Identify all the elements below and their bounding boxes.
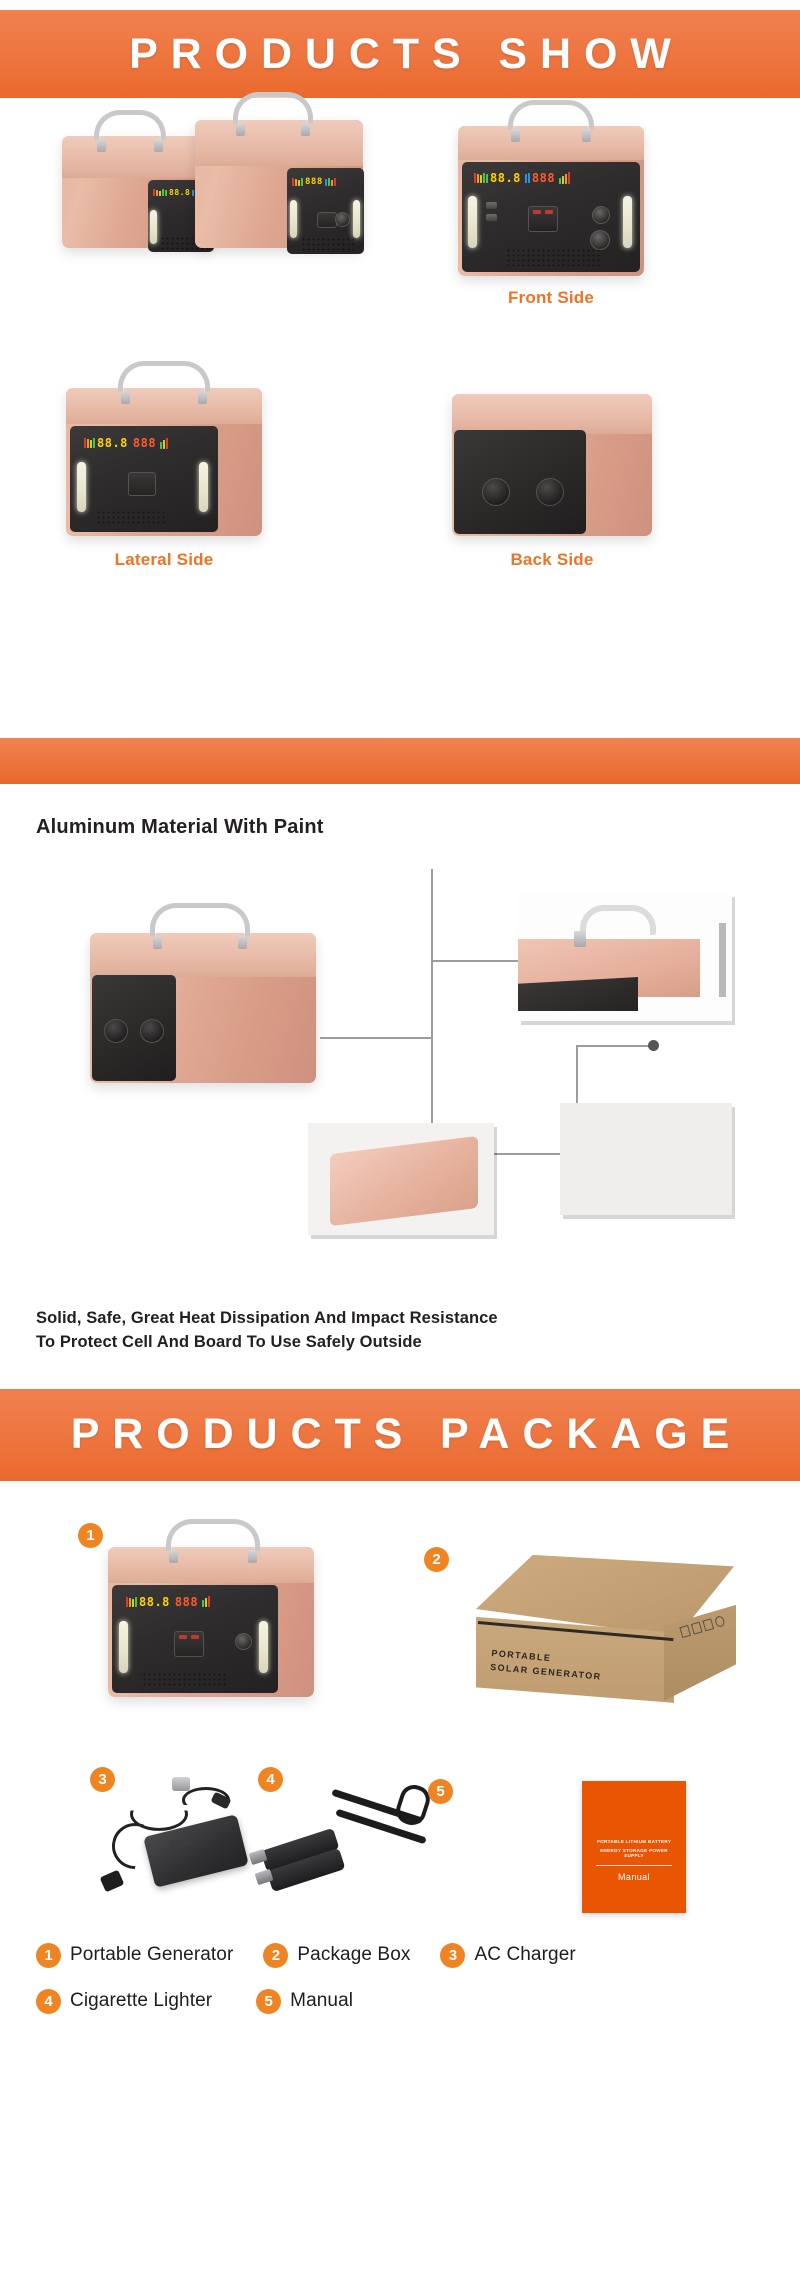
- carry-handle-icon: [233, 92, 313, 124]
- power-readout: 888: [133, 436, 156, 450]
- legend-item-3: 3 AC Charger: [440, 1943, 575, 1968]
- unit-back-face: [92, 975, 176, 1081]
- power-readout: 888: [175, 1595, 198, 1609]
- control-knob: [235, 1633, 252, 1650]
- manual-cover-line-2: ENERGY STORAGE POWER SUPPLY: [590, 1848, 678, 1858]
- unit-control-panel: 88.8 888: [462, 162, 640, 272]
- vent-grille: [96, 510, 166, 526]
- material-diagram: [0, 855, 800, 1307]
- legend-badge-2: 2: [263, 1943, 288, 1968]
- led-bargraph: [153, 189, 167, 196]
- led-light-strip: [259, 1621, 268, 1673]
- ac-outlet: [528, 206, 558, 232]
- carry-handle-icon: [118, 361, 210, 392]
- callout-line: [320, 1037, 432, 1039]
- voltage-readout-right: 888: [305, 177, 323, 187]
- control-knob: [335, 212, 350, 227]
- manual-cover-title: Manual: [590, 1872, 678, 1882]
- legend-badge-5: 5: [256, 1989, 281, 2014]
- products-package-banner: PRODUCTS PACKAGE: [0, 1389, 800, 1481]
- vent-grille: [301, 237, 357, 251]
- product-unit-front: 88.8 888: [458, 126, 644, 276]
- led-light-strip: [199, 462, 208, 512]
- material-description-line-2: To Protect Cell And Board To Use Safely …: [36, 1331, 764, 1355]
- legend-label-1: Portable Generator: [70, 1944, 233, 1966]
- carry-handle-icon: [166, 1519, 260, 1551]
- product-unit-lateral: 88.8 888: [66, 388, 262, 536]
- products-package-title: PRODUCTS PACKAGE: [58, 1413, 742, 1456]
- caption-front-side: Front Side: [458, 288, 644, 308]
- package-legend-row-1: 1 Portable Generator 2 Package Box 3 AC …: [36, 1943, 776, 1968]
- legend-label-4: Cigarette Lighter: [70, 1990, 212, 2012]
- power-readout: 888: [532, 171, 555, 185]
- detail-photo-paint-texture: [560, 1103, 732, 1215]
- led-light-strip: [353, 200, 360, 238]
- power-switch: [590, 230, 610, 250]
- product-unit-rear-left: 88.8: [62, 136, 212, 248]
- led-light-strip: [150, 210, 157, 244]
- legend-badge-1: 1: [36, 1943, 61, 1968]
- products-show-title: PRODUCTS SHOW: [116, 33, 684, 76]
- unit-back-face: [454, 430, 586, 534]
- legend-badge-4: 4: [36, 1989, 61, 2014]
- dc-socket: [104, 1019, 128, 1043]
- voltage-readout-left: 88.8: [169, 188, 190, 197]
- package-item-box: PORTABLE SOLAR GENERATOR: [452, 1555, 734, 1705]
- unit-top-face: [108, 1547, 314, 1583]
- material-hero-unit: [90, 933, 316, 1083]
- led-light-strip: [623, 196, 632, 248]
- vent-grille: [142, 1672, 226, 1688]
- product-show-gallery: 88.8: [0, 98, 800, 738]
- package-item-cigarette-lighter: [238, 1777, 428, 1907]
- led-light-strip: [119, 1621, 128, 1673]
- carry-handle-icon: [94, 110, 166, 140]
- detail-photo-top-surface: [308, 1123, 494, 1235]
- product-unit-rear-right: 888: [195, 120, 363, 248]
- control-knob: [592, 206, 610, 224]
- package-marker-2: 2: [424, 1547, 449, 1572]
- legend-badge-3: 3: [440, 1943, 465, 1968]
- unit-top-face: [195, 120, 363, 166]
- manual-cover-line-1: PORTABLE LITHIUM BATTERY: [590, 1839, 678, 1844]
- legend-item-5: 5 Manual: [256, 1989, 353, 2014]
- unit-control-panel: 88.8 888: [112, 1585, 278, 1693]
- unit-top-face: [90, 933, 316, 977]
- panel-button: [486, 214, 497, 221]
- vent-grille: [506, 248, 600, 266]
- section-divider-bar: [0, 738, 800, 784]
- voltage-readout-left: 88.8: [97, 436, 128, 450]
- material-section: Aluminum Material With Paint: [0, 784, 800, 1389]
- package-item-generator: 88.8 888: [108, 1547, 314, 1697]
- led-light-strip: [77, 462, 86, 512]
- dc-socket: [140, 1019, 164, 1043]
- products-show-banner: PRODUCTS SHOW: [0, 10, 800, 98]
- ac-outlet: [317, 212, 337, 228]
- panel-button: [486, 202, 497, 209]
- ac-outlet: [174, 1631, 204, 1657]
- material-description-line-1: Solid, Safe, Great Heat Dissipation And …: [36, 1307, 764, 1331]
- led-light-strip: [468, 196, 477, 248]
- package-marker-1: 1: [78, 1523, 103, 1548]
- unit-top-face: [458, 126, 644, 160]
- legend-label-5: Manual: [290, 1990, 353, 2012]
- callout-dot: [648, 1040, 659, 1051]
- product-unit-back: [452, 394, 652, 536]
- legend-item-1: 1 Portable Generator: [36, 1943, 233, 1968]
- ac-outlet: [128, 472, 156, 496]
- unit-control-panel: 88.8 888: [70, 426, 218, 532]
- unit-top-face: [66, 388, 262, 424]
- voltage-readout-left: 88.8: [490, 171, 521, 185]
- dc-socket: [482, 478, 510, 506]
- carry-handle-icon: [150, 903, 250, 937]
- legend-item-4: 4 Cigarette Lighter: [36, 1989, 212, 2014]
- package-item-manual: PORTABLE LITHIUM BATTERY ENERGY STORAGE …: [582, 1781, 686, 1913]
- package-contents: 1 88.8 888: [0, 1481, 800, 2041]
- dc-socket: [536, 478, 564, 506]
- product-detail-page: PRODUCTS SHOW 88.8: [0, 0, 800, 2041]
- unit-top-face: [62, 136, 212, 178]
- unit-control-panel: 888: [287, 168, 364, 254]
- legend-label-2: Package Box: [297, 1944, 410, 1966]
- package-legend-row-2: 4 Cigarette Lighter 5 Manual: [36, 1989, 776, 2014]
- legend-label-3: AC Charger: [474, 1944, 575, 1966]
- carry-handle-icon: [508, 100, 594, 130]
- callout-line: [431, 869, 433, 1155]
- callout-line: [576, 1045, 654, 1047]
- legend-item-2: 2 Package Box: [263, 1943, 410, 1968]
- detail-photo-handle: [518, 893, 732, 1021]
- caption-lateral-side: Lateral Side: [66, 550, 262, 570]
- voltage-readout-left: 88.8: [139, 1595, 170, 1609]
- material-heading: Aluminum Material With Paint: [36, 816, 764, 839]
- caption-back-side: Back Side: [452, 550, 652, 570]
- led-light-strip: [290, 200, 297, 238]
- unit-top-face: [452, 394, 652, 434]
- package-marker-5: 5: [428, 1779, 453, 1804]
